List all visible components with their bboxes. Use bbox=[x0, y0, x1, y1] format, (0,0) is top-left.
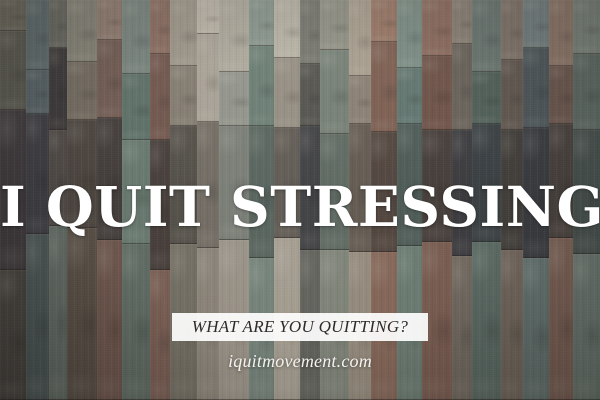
wood-plank-segment bbox=[549, 0, 573, 66]
wood-plank bbox=[122, 0, 150, 400]
wood-plank-segment bbox=[67, 120, 97, 228]
wood-plank-segment bbox=[0, 110, 26, 270]
wood-plank-segment bbox=[320, 134, 348, 250]
wood-plank bbox=[523, 0, 549, 400]
wood-plank-segment bbox=[274, 58, 300, 128]
wood-plank-segment bbox=[197, 248, 219, 400]
wood-plank-segment bbox=[573, 130, 599, 254]
wood-plank bbox=[197, 0, 219, 400]
wood-plank-segment bbox=[170, 66, 196, 126]
wood-plank bbox=[150, 0, 170, 400]
wood-plank-segment bbox=[170, 244, 196, 400]
wood-plank bbox=[249, 0, 273, 400]
wood-plank-segment bbox=[452, 0, 472, 44]
wood-plank-segment bbox=[549, 124, 573, 238]
wood-plank bbox=[349, 0, 371, 400]
wood-plank-segment bbox=[371, 42, 397, 132]
wood-plank-segment bbox=[300, 126, 320, 250]
wood-plank-segment bbox=[67, 228, 97, 400]
wood-plank-segment bbox=[26, 234, 48, 400]
wood-plank-segment bbox=[26, 114, 48, 234]
wood-plank-segment bbox=[219, 0, 249, 72]
wood-plank-segment bbox=[150, 0, 170, 54]
wood-plank bbox=[0, 0, 26, 400]
wood-plank-segment bbox=[197, 34, 219, 122]
wood-plank bbox=[549, 0, 573, 400]
wood-plank-segment bbox=[170, 126, 196, 244]
wood-plank-segment bbox=[549, 66, 573, 124]
wood-plank bbox=[422, 0, 452, 400]
wood-plank bbox=[49, 0, 67, 400]
wood-plank-segment bbox=[472, 124, 500, 242]
wood-plank-segment bbox=[523, 258, 549, 400]
wood-plank-segment bbox=[523, 48, 549, 128]
wood-plank-segment bbox=[0, 270, 26, 400]
wood-plank-segment bbox=[0, 31, 26, 110]
wood-plank-segment bbox=[371, 132, 397, 252]
wood-plank-segment bbox=[67, 62, 97, 120]
wood-plank-segment bbox=[397, 68, 421, 124]
wood-plank-segment bbox=[249, 0, 273, 46]
wood-plank bbox=[320, 0, 348, 400]
wood-plank-segment bbox=[0, 0, 26, 31]
wood-plank bbox=[170, 0, 196, 400]
wood-plank-background bbox=[0, 0, 600, 400]
wood-plank-segment bbox=[371, 0, 397, 42]
wood-plank-segment bbox=[97, 0, 121, 40]
wood-plank-segment bbox=[170, 0, 196, 66]
wood-plank-segment bbox=[122, 140, 150, 244]
wood-plank-segment bbox=[197, 122, 219, 248]
wood-plank-segment bbox=[219, 240, 249, 400]
wood-plank-segment bbox=[573, 254, 599, 400]
wood-plank bbox=[274, 0, 300, 400]
wood-plank-segment bbox=[472, 0, 500, 72]
wood-plank-segment bbox=[523, 128, 549, 258]
wood-plank-segment bbox=[422, 56, 452, 130]
wood-plank-segment bbox=[452, 44, 472, 130]
wood-plank-segment bbox=[397, 124, 421, 246]
wood-plank bbox=[26, 0, 48, 400]
wood-plank-segment bbox=[197, 0, 219, 34]
wood-plank-segment bbox=[249, 258, 273, 400]
wood-plank bbox=[300, 0, 320, 400]
wood-plank-segment bbox=[97, 240, 121, 400]
wood-plank-segment bbox=[49, 130, 67, 226]
wood-plank bbox=[371, 0, 397, 400]
wood-plank-segment bbox=[320, 0, 348, 50]
wood-plank-segment bbox=[300, 0, 320, 64]
wood-plank-segment bbox=[274, 0, 300, 58]
wood-plank bbox=[472, 0, 500, 400]
wood-plank-segment bbox=[573, 54, 599, 130]
wood-plank-segment bbox=[150, 54, 170, 140]
wood-plank bbox=[397, 0, 421, 400]
wood-plank-segment bbox=[501, 60, 523, 130]
wood-plank-segment bbox=[397, 0, 421, 68]
wood-plank-segment bbox=[67, 0, 97, 62]
wood-plank bbox=[501, 0, 523, 400]
wood-plank-segment bbox=[349, 0, 371, 76]
wood-plank-segment bbox=[452, 130, 472, 256]
wood-plank-segment bbox=[249, 126, 273, 258]
wood-plank-segment bbox=[219, 126, 249, 240]
wood-plank bbox=[97, 0, 121, 400]
wood-plank-segment bbox=[472, 72, 500, 124]
wood-plank-segment bbox=[422, 130, 452, 242]
wood-plank-segment bbox=[274, 238, 300, 400]
wood-plank-segment bbox=[219, 72, 249, 126]
wood-plank-segment bbox=[122, 74, 150, 140]
wood-plank-segment bbox=[501, 130, 523, 250]
wood-plank-segment bbox=[422, 242, 452, 400]
wood-plank-segment bbox=[349, 76, 371, 124]
wood-plank-segment bbox=[122, 0, 150, 74]
wood-plank-segment bbox=[397, 246, 421, 400]
wood-plank bbox=[452, 0, 472, 400]
wood-plank-segment bbox=[422, 0, 452, 56]
wood-plank-segment bbox=[49, 48, 67, 130]
wood-plank bbox=[67, 0, 97, 400]
poster-image: I QUIT STRESSING WHAT ARE YOU QUITTING? … bbox=[0, 0, 600, 400]
wood-plank-segment bbox=[150, 140, 170, 270]
wood-plank-segment bbox=[97, 40, 121, 118]
wood-plank-segment bbox=[300, 250, 320, 400]
wood-plank-segment bbox=[573, 0, 599, 54]
wood-plank-segment bbox=[300, 64, 320, 126]
wood-plank-segment bbox=[501, 0, 523, 60]
wood-plank-segment bbox=[97, 118, 121, 240]
wood-plank-segment bbox=[26, 0, 48, 70]
wood-plank-segment bbox=[150, 270, 170, 400]
wood-plank-segment bbox=[349, 252, 371, 400]
wood-plank-segment bbox=[26, 70, 48, 114]
wood-plank-segment bbox=[452, 256, 472, 400]
wood-plank-segment bbox=[472, 242, 500, 400]
wood-plank-segment bbox=[249, 46, 273, 126]
wood-plank-segment bbox=[501, 250, 523, 400]
wood-plank-segment bbox=[49, 226, 67, 400]
wood-plank-segment bbox=[523, 0, 549, 48]
wood-plank-segment bbox=[122, 244, 150, 400]
wood-plank-segment bbox=[320, 250, 348, 400]
wood-plank bbox=[573, 0, 599, 400]
wood-plank-segment bbox=[274, 128, 300, 238]
wood-plank-segment bbox=[349, 124, 371, 252]
wood-plank-segment bbox=[49, 0, 67, 48]
wood-plank-segment bbox=[371, 252, 397, 400]
wood-plank bbox=[219, 0, 249, 400]
wood-plank-segment bbox=[549, 238, 573, 400]
wood-plank-segment bbox=[320, 50, 348, 134]
